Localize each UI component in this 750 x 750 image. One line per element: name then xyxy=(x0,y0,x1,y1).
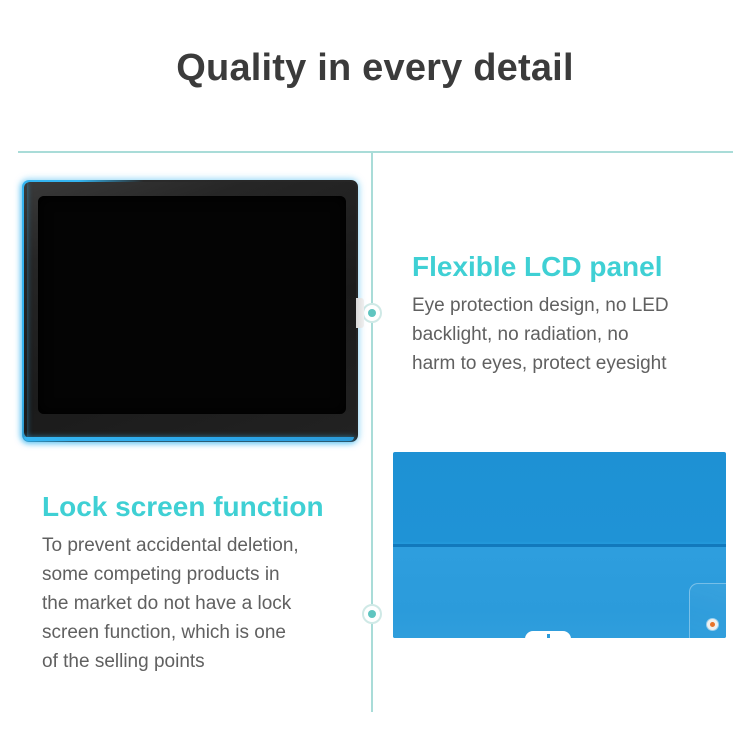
feature-body-lock-screen-function: To prevent accidental deletion, some com… xyxy=(42,531,362,676)
vertical-timeline-line xyxy=(371,152,373,712)
feature-flexible-lcd-panel: Flexible LCD panel Eye protection design… xyxy=(412,250,732,378)
product-feature-page: Quality in every detail Flexible LCD pan… xyxy=(0,0,750,750)
stylus-port-icon xyxy=(707,619,718,630)
tablet-back-seam-line xyxy=(393,544,726,547)
horizontal-divider xyxy=(18,151,733,153)
timeline-node-one xyxy=(362,303,382,323)
tablet-back-image xyxy=(393,452,726,638)
feature-body-line: To prevent accidental deletion, xyxy=(42,531,362,560)
tablet-front-image xyxy=(22,180,358,442)
tablet-bottom-edge-glow xyxy=(24,437,354,441)
tablet-front-glow xyxy=(22,180,358,442)
feature-body-line: of the selling points xyxy=(42,647,362,676)
page-title: Quality in every detail xyxy=(0,44,750,92)
tablet-front-bezel xyxy=(24,182,356,438)
feature-body-line: screen function, which is one xyxy=(42,618,362,647)
feature-body-flexible-lcd-panel: Eye protection design, no LED backlight,… xyxy=(412,291,732,378)
feature-body-line: Eye protection design, no LED xyxy=(412,291,732,320)
tablet-front-screen xyxy=(38,196,346,414)
feature-heading-flexible-lcd-panel: Flexible LCD panel xyxy=(412,250,732,284)
tablet-left-edge-glow xyxy=(23,183,27,439)
tablet-side-button xyxy=(356,298,364,328)
tablet-back-notch-divider xyxy=(547,634,550,638)
feature-body-line: some competing products in xyxy=(42,560,362,589)
timeline-node-two xyxy=(362,604,382,624)
tablet-back-corner-flap xyxy=(689,583,726,638)
feature-lock-screen-function: Lock screen function To prevent accident… xyxy=(42,490,362,676)
feature-body-line: backlight, no radiation, no xyxy=(412,320,732,349)
feature-body-line: harm to eyes, protect eyesight xyxy=(412,349,732,378)
feature-body-line: the market do not have a lock xyxy=(42,589,362,618)
feature-heading-lock-screen-function: Lock screen function xyxy=(42,490,362,524)
tablet-back-lower-face xyxy=(393,547,726,638)
